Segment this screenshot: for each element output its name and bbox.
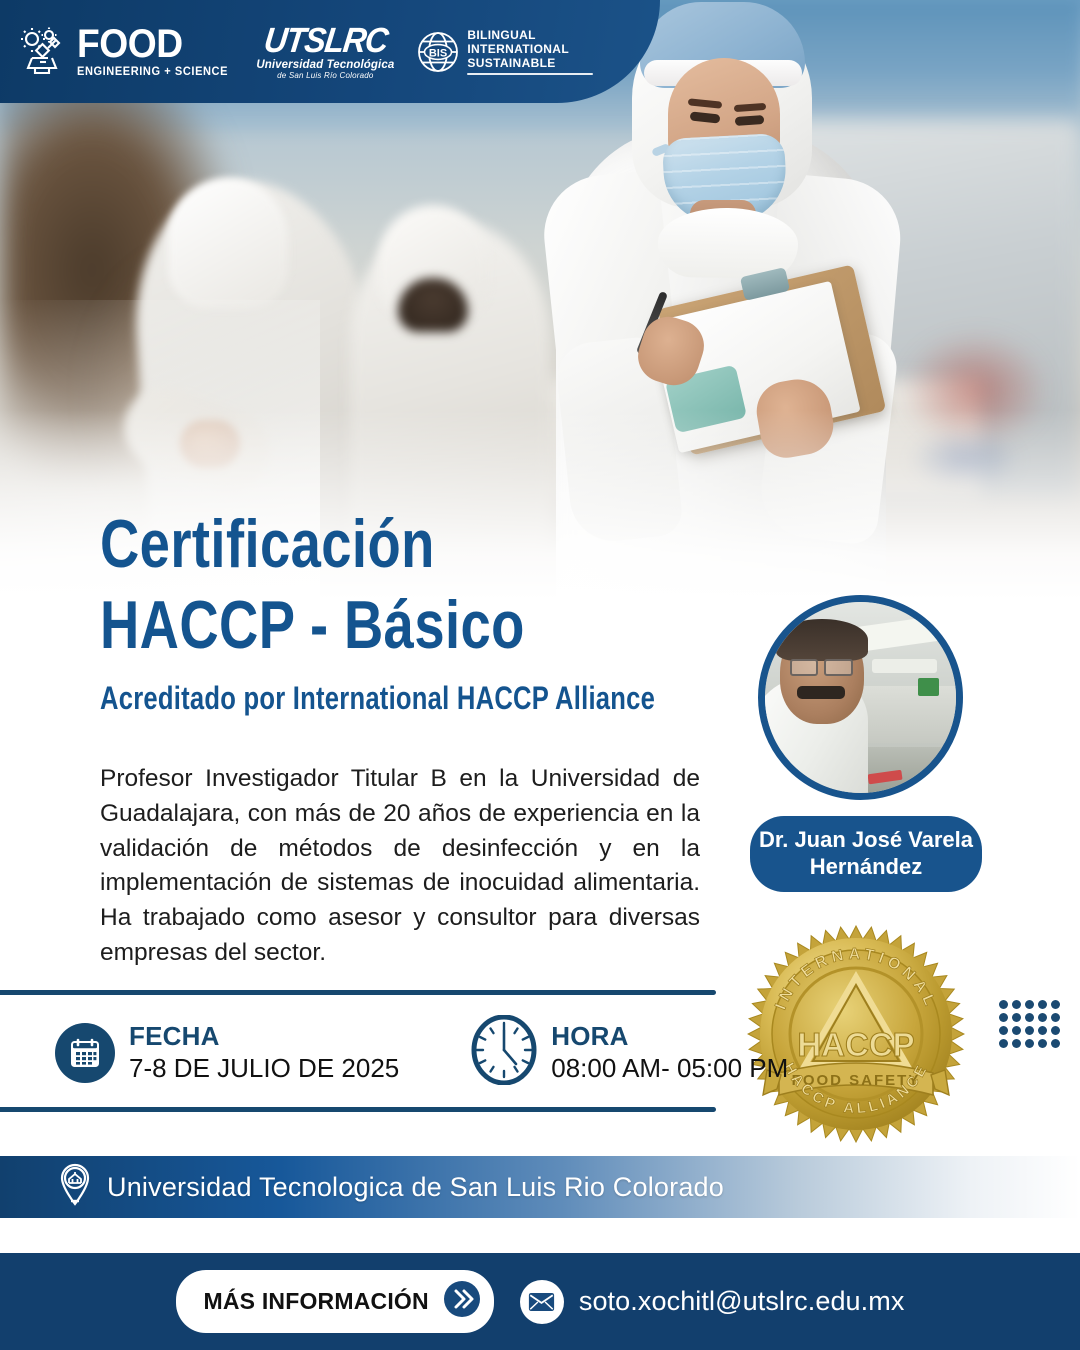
speaker-bio: Profesor Investigador Titular B en la Un… [100, 762, 700, 971]
grid-dot [999, 1000, 1008, 1009]
grid-dot [1012, 1026, 1021, 1035]
seal-center-text: HACCP [797, 1026, 914, 1063]
grid-dot [1051, 1026, 1060, 1035]
logo-bis: BIS BILINGUAL INTERNATIONAL SUSTAINABLE [416, 28, 593, 75]
divider-top [0, 990, 716, 995]
utslrc-wordmark: UTSLRC [262, 23, 389, 58]
bis-globe-icon: BIS [416, 30, 460, 74]
page-subtitle: Acreditado por International HACCP Allia… [100, 680, 655, 717]
grid-dot [1051, 1013, 1060, 1022]
microscope-gear-icon [18, 26, 70, 78]
university-name: Universidad Tecnologica de San Luis Rio … [107, 1172, 724, 1203]
speaker-block: Dr. Juan José Varela Hernández [750, 595, 980, 892]
grid-dot [1012, 1039, 1021, 1048]
logo-food: FOOD ENGINEERING + SCIENCE [18, 24, 234, 79]
calendar-icon [55, 1023, 115, 1083]
more-info-label: MÁS INFORMACIÓN [204, 1288, 429, 1315]
grid-dot [1038, 1026, 1047, 1035]
contact-email: soto.xochitl@utslrc.edu.mx [579, 1286, 905, 1317]
page-title-line1: Certificación [100, 510, 612, 579]
grid-dot [999, 1013, 1008, 1022]
dot-grid-decoration-2 [999, 1000, 1060, 1048]
page-title-line2: HACCP - Básico [100, 591, 612, 660]
grid-dot [1012, 1000, 1021, 1009]
time-value: 08:00 AM- 05:00 PM [551, 1054, 788, 1083]
event-time-item: HORA 08:00 AM- 05:00 PM [471, 1015, 788, 1090]
university-banner: Universidad Tecnologica de San Luis Rio … [0, 1156, 1080, 1218]
speaker-avatar [758, 595, 963, 800]
grid-dot [1012, 1013, 1021, 1022]
bis-line-1: BILINGUAL [467, 28, 593, 42]
utslrc-sub2: de San Luis Río Colorado [277, 72, 373, 80]
clock-icon [471, 1015, 537, 1090]
footer-bar: MÁS INFORMACIÓN soto.xochitl@utslrc.edu.… [0, 1253, 1080, 1350]
grid-dot [1025, 1000, 1034, 1009]
utslrc-sub1: Universidad Tecnológica [256, 60, 394, 72]
grid-dot [1025, 1026, 1034, 1035]
date-label: FECHA [129, 1022, 399, 1051]
envelope-icon [520, 1280, 564, 1324]
grid-dot [1051, 1000, 1060, 1009]
grid-dot [1038, 1039, 1047, 1048]
contact-email-block[interactable]: soto.xochitl@utslrc.edu.mx [520, 1280, 905, 1324]
svg-text:BIS: BIS [429, 47, 447, 59]
food-logo-sub: ENGINEERING + SCIENCE [77, 67, 228, 79]
event-info-row: FECHA 7-8 DE JULIO DE 2025 [55, 1015, 788, 1090]
header-bar: FOOD ENGINEERING + SCIENCE UTSLRC Univer… [0, 0, 660, 103]
bis-line-2: INTERNATIONAL [467, 42, 593, 56]
grid-dot [999, 1039, 1008, 1048]
event-date-item: FECHA 7-8 DE JULIO DE 2025 [55, 1022, 399, 1083]
time-label: HORA [551, 1022, 788, 1051]
speaker-name-badge: Dr. Juan José Varela Hernández [750, 816, 982, 892]
double-chevron-right-icon [443, 1280, 481, 1323]
location-pin-icon [58, 1163, 92, 1212]
date-value: 7-8 DE JULIO DE 2025 [129, 1054, 399, 1083]
content-area: Certificación HACCP - Básico Acreditado … [0, 470, 1080, 1350]
grid-dot [999, 1026, 1008, 1035]
logo-utslrc: UTSLRC Universidad Tecnológica de San Lu… [256, 23, 394, 81]
divider-bottom [0, 1107, 716, 1112]
poster-root: FOOD ENGINEERING + SCIENCE UTSLRC Univer… [0, 0, 1080, 1350]
bis-underline [467, 73, 593, 75]
grid-dot [1025, 1013, 1034, 1022]
grid-dot [1025, 1039, 1034, 1048]
title-block: Certificación HACCP - Básico Acreditado … [100, 510, 740, 723]
grid-dot [1038, 1000, 1047, 1009]
more-info-button[interactable]: MÁS INFORMACIÓN [176, 1270, 494, 1333]
grid-dot [1038, 1013, 1047, 1022]
grid-dot [1051, 1039, 1060, 1048]
bis-line-3: SUSTAINABLE [467, 56, 593, 70]
food-logo-word: FOOD [77, 24, 183, 64]
